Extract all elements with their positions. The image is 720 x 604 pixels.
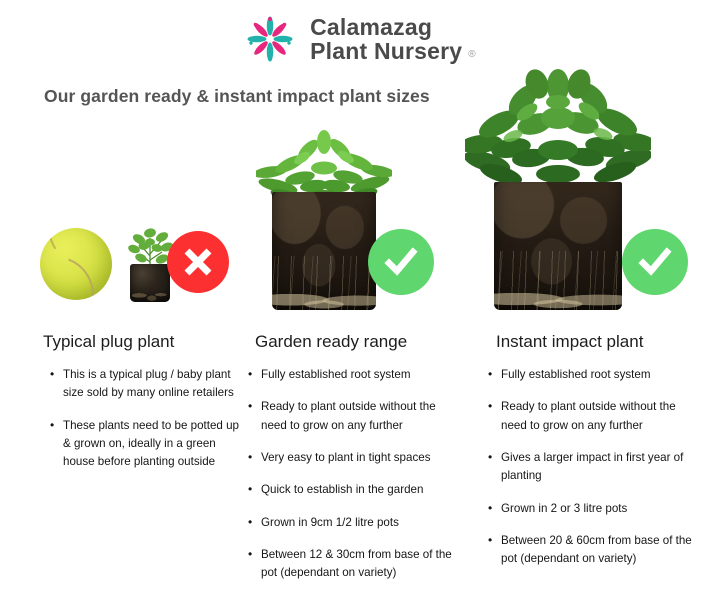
bullet-list-typical-plug-plant: This is a typical plug / baby plant size… [50,366,240,486]
list-item: Gives a larger impact in first year of p… [488,449,698,486]
bullet-list-instant-impact-plant: Fully established root system Ready to p… [488,366,698,583]
column-title-instant-impact-plant: Instant impact plant [496,332,643,352]
list-item: Very easy to plant in tight spaces [248,449,463,467]
plant-size-comparison: Typical plug plant This is a typical plu… [0,0,720,604]
plug-plant-rootball [130,264,170,302]
list-item: Fully established root system [248,366,463,384]
instant-impact-rootball-plant-image [494,62,622,310]
list-item: Fully established root system [488,366,698,384]
list-item: Ready to plant outside without the need … [488,398,698,435]
list-item: Between 20 & 60cm from base of the pot (… [488,532,698,569]
column-title-garden-ready-range: Garden ready range [255,332,407,352]
column-instant-impact-plant: Instant impact plant Fully established r… [478,0,706,604]
column-title-typical-plug-plant: Typical plug plant [43,332,174,352]
instant-impact-foliage [465,62,651,202]
list-item: This is a typical plug / baby plant size… [50,366,240,403]
instant-impact-image-group [478,50,706,310]
plug-plant-image-group [18,60,240,310]
column-typical-plug-plant: Typical plug plant This is a typical plu… [18,0,240,604]
list-item: Ready to plant outside without the need … [248,398,463,435]
list-item: Between 12 & 30cm from base of the pot (… [248,546,463,583]
column-garden-ready-range: Garden ready range Fully established roo… [240,0,478,604]
list-item: Grown in 2 or 3 litre pots [488,500,698,518]
garden-ready-rootball-plant-image [272,124,376,310]
instant-impact-rootball-soil [494,182,622,310]
garden-ready-rootball-soil [272,192,376,310]
list-item: Quick to establish in the garden [248,481,463,499]
list-item: These plants need to be potted up & grow… [50,417,240,472]
bullet-list-garden-ready-range: Fully established root system Ready to p… [248,366,463,597]
tennis-ball-image [40,228,112,300]
garden-ready-image-group [240,60,478,310]
list-item: Grown in 9cm 1/2 litre pots [248,514,463,532]
plug-plant-image [122,216,178,302]
